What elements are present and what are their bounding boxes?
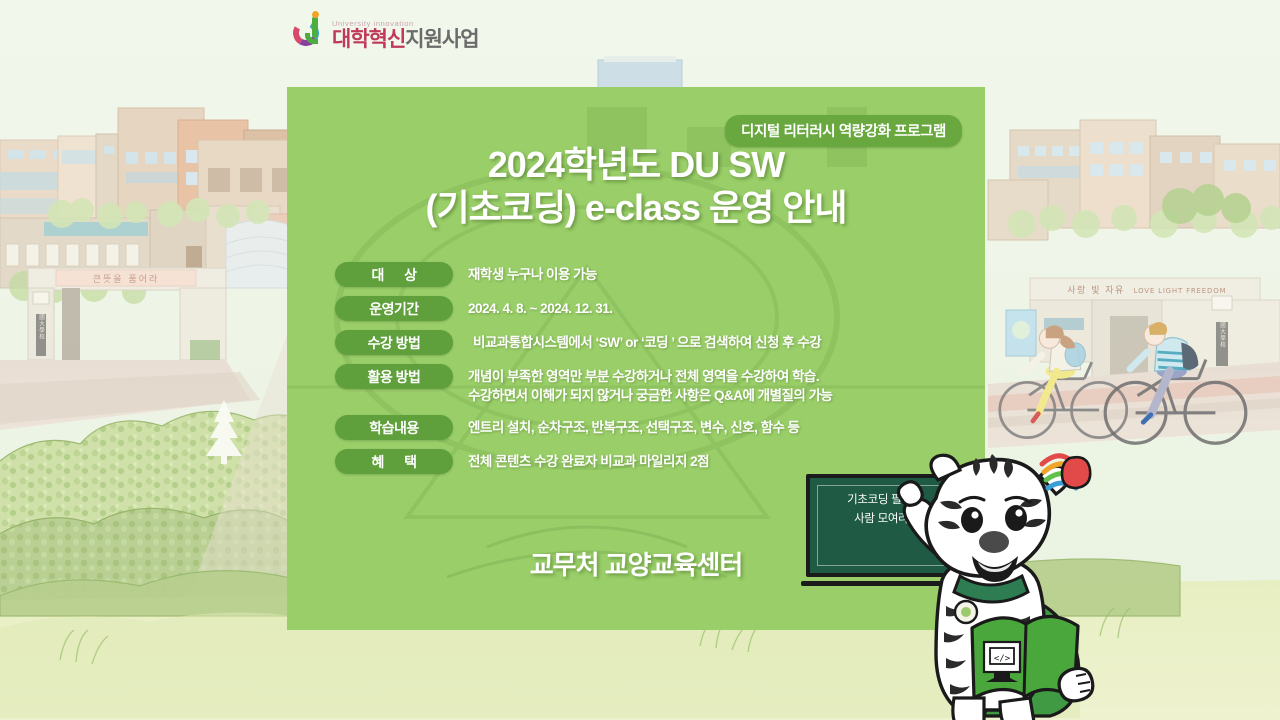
info-label-enroll-method: 수강 방법	[335, 330, 453, 355]
svg-text:LOVE LIGHT FREEDOM: LOVE LIGHT FREEDOM	[1134, 287, 1227, 295]
info-label-usage-method: 활용 방법	[335, 364, 453, 389]
logo-english-tagline: University innovation	[332, 20, 479, 28]
poster-title: 2024학년도 DU SW (기초코딩) e-class 운영 안내	[287, 144, 985, 230]
svg-text:檀國大學校: 檀國大學校	[1219, 315, 1226, 349]
info-label-period: 운영기간	[335, 296, 453, 321]
info-value-period: 2024. 4. 8. ~ 2024. 12. 31.	[468, 296, 613, 318]
info-row-target: 대 상 재학생 누구나 이용 가능	[335, 262, 955, 287]
info-value-usage-method: 개념이 부족한 영역만 부분 수강하거나 전체 영역을 수강하여 학습. 수강하…	[468, 364, 832, 405]
logo-korean-name: 대학혁신지원사업	[332, 29, 479, 50]
info-row-curriculum: 학습내용 엔트리 설치, 순차구조, 반복구조, 선택구조, 변수, 신호, 함…	[335, 415, 955, 440]
white-tiger-mascot: </>	[880, 440, 1150, 720]
info-label-target: 대 상	[335, 262, 453, 287]
info-label-curriculum: 학습내용	[335, 415, 453, 440]
info-row-enroll-method: 수강 방법 비교과통합시스템에서 ‘SW’ or ‘코딩 ’ 으로 검색하여 신…	[335, 330, 955, 355]
info-value-curriculum: 엔트리 설치, 순차구조, 반복구조, 선택구조, 변수, 신호, 함수 등	[468, 415, 800, 437]
info-label-benefit: 혜 택	[335, 449, 453, 474]
info-rows: 대 상 재학생 누구나 이용 가능 운영기간 2024. 4. 8. ~ 202…	[335, 262, 955, 483]
svg-text:</>: </>	[994, 654, 1011, 664]
info-row-period: 운영기간 2024. 4. 8. ~ 2024. 12. 31.	[335, 296, 955, 321]
program-badge: 디지털 리터러시 역량강화 프로그램	[725, 115, 962, 147]
svg-text:큰뜻을 품어라: 큰뜻을 품어라	[93, 274, 160, 285]
logo-korean-part2: 지원사업	[405, 28, 478, 51]
svg-text:檀國大學校: 檀國大學校	[38, 307, 45, 341]
poster-title-line2: (기초코딩) e-class 운영 안내	[287, 186, 985, 230]
logo-korean-part1: 대학혁신	[332, 28, 405, 51]
uj-logo-icon	[293, 14, 327, 50]
university-innovation-logo: University innovation 대학혁신지원사업	[293, 14, 479, 50]
info-row-usage-method: 활용 방법 개념이 부족한 영역만 부분 수강하거나 전체 영역을 수강하여 학…	[335, 364, 955, 405]
info-value-enroll-method: 비교과통합시스템에서 ‘SW’ or ‘코딩 ’ 으로 검색하여 신청 후 수강	[473, 330, 821, 352]
svg-text:사랑 빛 자유: 사랑 빛 자유	[1067, 284, 1125, 296]
info-value-target: 재학생 누구나 이용 가능	[468, 262, 597, 284]
info-value-benefit: 전체 콘텐츠 수강 완료자 비교과 마일리지 2점	[468, 449, 709, 471]
info-row-benefit: 혜 택 전체 콘텐츠 수강 완료자 비교과 마일리지 2점	[335, 449, 955, 474]
poster-title-line1: 2024학년도 DU SW	[287, 144, 985, 186]
